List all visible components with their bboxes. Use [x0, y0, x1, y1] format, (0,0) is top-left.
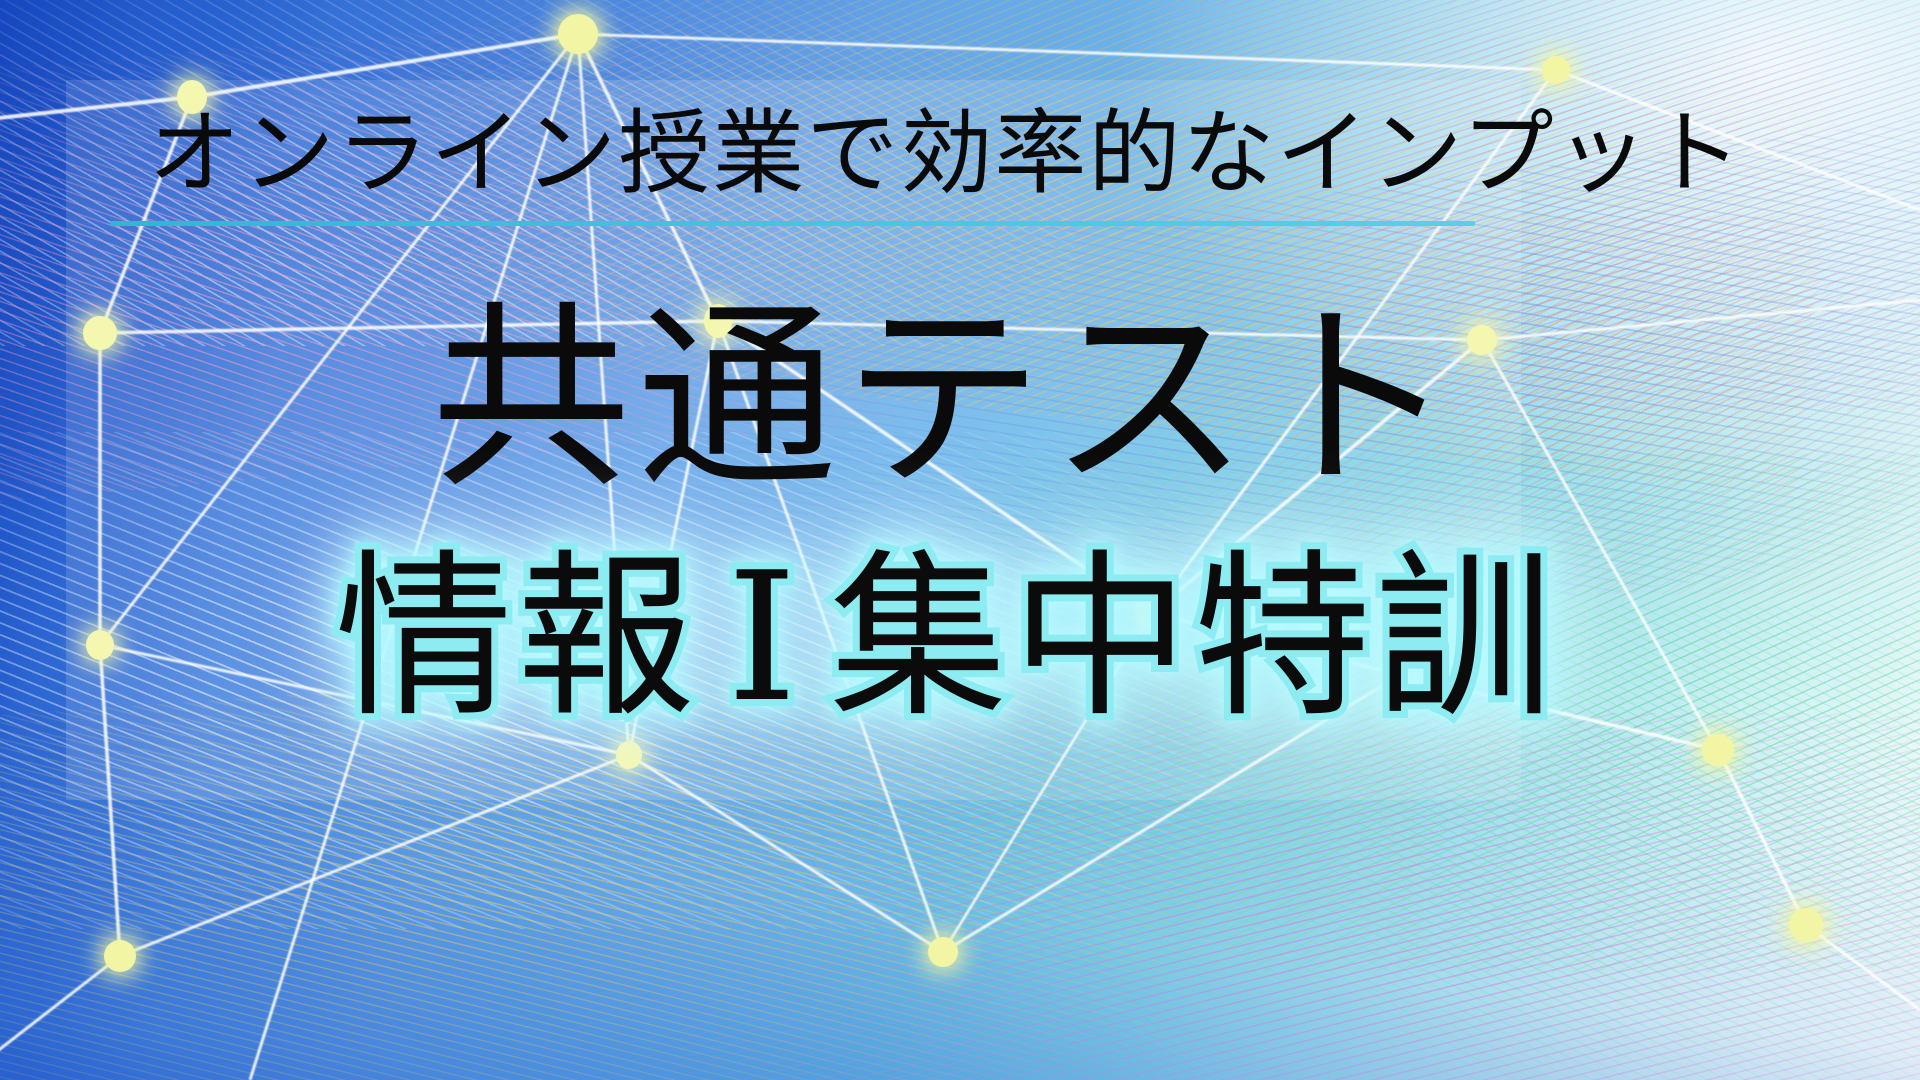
- poster-highlight-title: 情報I集中特訓: [0, 545, 1906, 732]
- poster-main-title: 共通テスト: [0, 300, 1906, 500]
- highlight-title-text: 情報I集中特訓: [335, 545, 1557, 732]
- poster-canvas: オンライン授業で効率的なインプット 共通テスト 情報I集中特訓: [0, 0, 1920, 1080]
- highlight-part-1: 情報: [335, 534, 699, 741]
- poster-subtitle: オンライン授業で効率的なインプット: [0, 108, 1906, 200]
- subtitle-underline: [110, 221, 1475, 226]
- text-layer: オンライン授業で効率的なインプット 共通テスト 情報I集中特訓: [0, 0, 1920, 1080]
- highlight-part-3: 集中特訓: [829, 534, 1557, 741]
- highlight-part-2: I: [727, 534, 801, 741]
